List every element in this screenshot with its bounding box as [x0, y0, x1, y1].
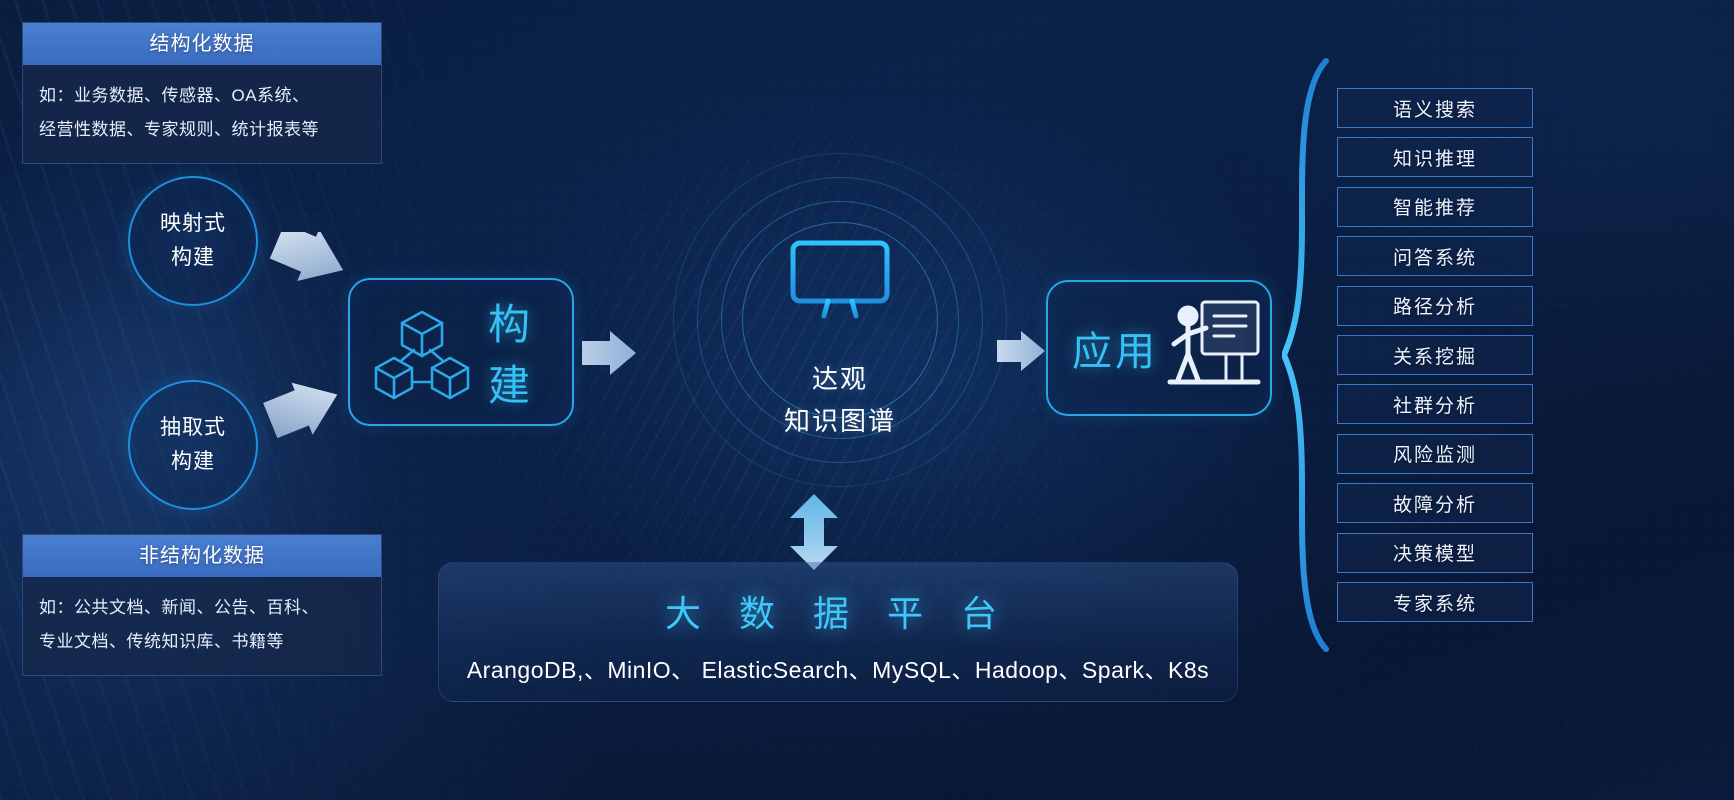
method-circle-extraction-line-1: 抽取式: [160, 411, 226, 445]
unstructured-data-line-1: 如：公共文档、新闻、公告、百科、: [39, 591, 365, 625]
knowledge-graph-line-1: 达观: [670, 358, 1010, 400]
cube-network-icon: [370, 298, 474, 407]
stage-build-label: 构建: [488, 291, 572, 413]
structured-data-title: 结构化数据: [23, 23, 381, 65]
structured-data-card: 结构化数据 如：业务数据、传感器、OA系统、 经营性数据、专家规则、统计报表等: [22, 22, 382, 164]
big-data-platform-stack: ArangoDB,、MinIO、 ElasticSearch、MySQL、Had…: [439, 637, 1237, 685]
method-circle-mapping-line-2: 构建: [171, 241, 215, 275]
structured-data-body: 如：业务数据、传感器、OA系统、 经营性数据、专家规则、统计报表等: [23, 65, 381, 163]
arrow-extraction-to-build: [262, 368, 357, 443]
applications-bracket: [1282, 55, 1342, 655]
application-item-4[interactable]: 问答系统: [1337, 236, 1533, 276]
method-circle-mapping-line-1: 映射式: [160, 207, 226, 241]
application-item-5[interactable]: 路径分析: [1337, 286, 1533, 326]
knowledge-graph-line-2: 知识图谱: [670, 400, 1010, 442]
method-circle-extraction-line-2: 构建: [171, 445, 215, 479]
arrow-platform-bidirectional: [782, 492, 846, 572]
method-circle-extraction: 抽取式 构建: [128, 380, 258, 510]
application-item-9[interactable]: 故障分析: [1337, 483, 1533, 523]
stage-apply[interactable]: 应用: [1046, 280, 1272, 416]
method-circle-mapping: 映射式 构建: [128, 176, 258, 306]
application-item-6[interactable]: 关系挖掘: [1337, 335, 1533, 375]
structured-data-line-2: 经营性数据、专家规则、统计报表等: [39, 113, 365, 147]
arrow-build-to-knowledge-graph: [580, 325, 640, 381]
presentation-person-icon: [1166, 296, 1262, 401]
knowledge-graph-center: 达观 知识图谱: [670, 150, 1010, 490]
unstructured-data-card: 非结构化数据 如：公共文档、新闻、公告、百科、 专业文档、传统知识库、书籍等: [22, 534, 382, 676]
big-data-platform-panel: 大 数 据 平 台 ArangoDB,、MinIO、 ElasticSearch…: [438, 562, 1238, 702]
application-item-3[interactable]: 智能推荐: [1337, 187, 1533, 227]
stage-apply-label: 应用: [1072, 319, 1158, 377]
application-item-10[interactable]: 决策模型: [1337, 533, 1533, 573]
application-item-2[interactable]: 知识推理: [1337, 137, 1533, 177]
unstructured-data-line-2: 专业文档、传统知识库、书籍等: [39, 625, 365, 659]
big-data-platform-title: 大 数 据 平 台: [439, 563, 1237, 637]
stage-build[interactable]: 构建: [348, 278, 574, 426]
structured-data-line-1: 如：业务数据、传感器、OA系统、: [39, 79, 365, 113]
knowledge-graph-label: 达观 知识图谱: [670, 358, 1010, 442]
unstructured-data-body: 如：公共文档、新闻、公告、百科、 专业文档、传统知识库、书籍等: [23, 577, 381, 675]
application-item-1[interactable]: 语义搜索: [1337, 88, 1533, 128]
monitor-icon: [788, 238, 892, 337]
unstructured-data-title: 非结构化数据: [23, 535, 381, 577]
arrow-mapping-to-build: [268, 232, 358, 302]
application-item-7[interactable]: 社群分析: [1337, 384, 1533, 424]
application-item-8[interactable]: 风险监测: [1337, 434, 1533, 474]
application-item-11[interactable]: 专家系统: [1337, 582, 1533, 622]
